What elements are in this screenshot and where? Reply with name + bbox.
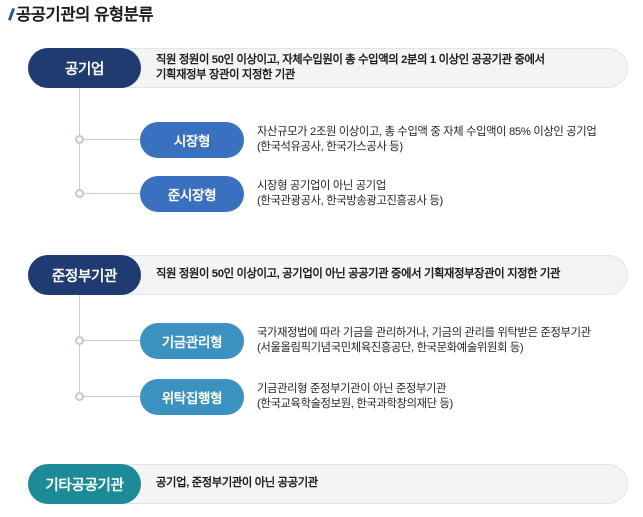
pill-quasi-government[interactable]: 준정부기관 (28, 255, 141, 295)
page-title-block: 공공기관의 유형분류 (8, 6, 153, 25)
connector-horizontal-fund (79, 340, 147, 341)
pill-fund-management-type[interactable]: 기금관리형 (140, 323, 244, 359)
row-commissioned-execution-type[interactable]: 위탁집행형 기금관리형 준정부기관이 아닌 준정부기관 (한국교육학술정보원, … (140, 377, 635, 417)
row-public-enterprise[interactable]: 공기업 직원 정원이 50인 이상이고, 자체수입원이 총 수입액의 2분의 1… (28, 48, 628, 88)
description-quasi-government: 직원 정원이 50인 이상이고, 공기업이 아닌 공공기관 중에서 기획재정부장… (156, 267, 560, 283)
pill-quasi-market-type[interactable]: 준시장형 (140, 176, 244, 212)
row-other-public-institution[interactable]: 기타공공기관 공기업, 준정부기관이 아닌 공공기관 (28, 464, 628, 504)
page-title: 공공기관의 유형분류 (16, 6, 153, 25)
row-quasi-government[interactable]: 준정부기관 직원 정원이 50인 이상이고, 공기업이 아닌 공공기관 중에서 … (28, 255, 628, 295)
connector-horizontal-market (79, 139, 147, 140)
pill-label: 기타공공기관 (45, 474, 123, 495)
pill-label: 기금관리형 (162, 331, 223, 351)
row-fund-management-type[interactable]: 기금관리형 국가재정법에 따라 기금을 관리하거나, 기금의 관리를 위탁받은 … (140, 321, 635, 361)
connector-node-commissioned (75, 392, 84, 401)
pill-label: 준정부기관 (52, 265, 117, 286)
pill-label: 공기업 (65, 58, 104, 79)
pill-market-type[interactable]: 시장형 (140, 122, 244, 158)
row-market-type[interactable]: 시장형 자산규모가 2조원 이상이고, 총 수입액 중 자체 수입액이 85% … (140, 120, 635, 160)
description-market-type: 자산규모가 2조원 이상이고, 총 수입액 중 자체 수입액이 85% 이상인 … (257, 125, 596, 156)
pill-commissioned-execution-type[interactable]: 위탁집행형 (140, 379, 244, 415)
pill-public-enterprise[interactable]: 공기업 (28, 48, 141, 88)
connector-horizontal-commissioned (79, 396, 147, 397)
title-tick-icon (8, 8, 15, 21)
connector-node-quasi-market (75, 189, 84, 198)
description-other-public-institution: 공기업, 준정부기관이 아닌 공공기관 (156, 476, 318, 492)
pill-label: 위탁집행형 (162, 387, 223, 407)
description-fund-management-type: 국가재정법에 따라 기금을 관리하거나, 기금의 관리를 위탁받은 준정부기관 … (257, 326, 591, 357)
pill-other-public-institution[interactable]: 기타공공기관 (28, 464, 141, 504)
connector-vertical-group1 (79, 85, 80, 193)
connector-horizontal-quasi-market (79, 193, 147, 194)
row-quasi-market-type[interactable]: 준시장형 시장형 공기업이 아닌 공기업 (한국관광공사, 한국방송광고진흥공사… (140, 174, 635, 214)
connector-node-fund (75, 336, 84, 345)
connector-node-market (75, 135, 84, 144)
description-quasi-market-type: 시장형 공기업이 아닌 공기업 (한국관광공사, 한국방송광고진흥공사 등) (257, 179, 443, 210)
description-public-enterprise: 직원 정원이 50인 이상이고, 자체수입원이 총 수입액의 2분의 1 이상인… (156, 53, 545, 84)
pill-label: 시장형 (174, 130, 210, 150)
connector-vertical-group2 (79, 292, 80, 400)
pill-label: 준시장형 (168, 184, 216, 204)
description-commissioned-execution-type: 기금관리형 준정부기관이 아닌 준정부기관 (한국교육학술정보원, 한국과학창의… (257, 382, 453, 413)
